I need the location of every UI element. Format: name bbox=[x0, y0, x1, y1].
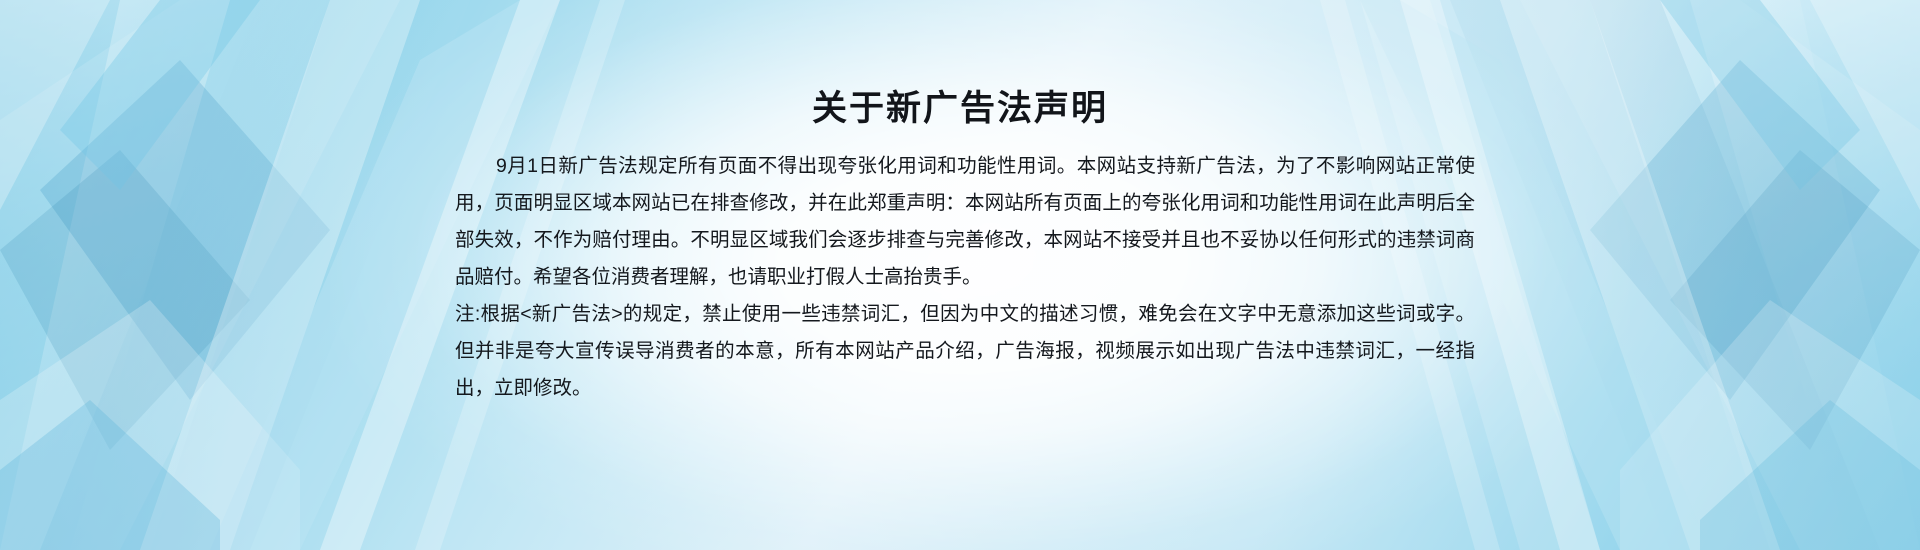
statement-paragraph-2: 注:根据<新广告法>的规定，禁止使用一些违禁词汇，但因为中文的描述习惯，难免会在… bbox=[455, 296, 1475, 407]
advertising-law-statement-banner: 关于新广告法声明 9月1日新广告法规定所有页面不得出现夸张化用词和功能性用词。本… bbox=[0, 0, 1920, 550]
statement-content: 关于新广告法声明 9月1日新广告法规定所有页面不得出现夸张化用词和功能性用词。本… bbox=[0, 0, 1920, 550]
statement-paragraph-1: 9月1日新广告法规定所有页面不得出现夸张化用词和功能性用词。本网站支持新广告法，… bbox=[455, 148, 1475, 296]
statement-body: 9月1日新广告法规定所有页面不得出现夸张化用词和功能性用词。本网站支持新广告法，… bbox=[455, 148, 1475, 407]
page-title: 关于新广告法声明 bbox=[0, 88, 1920, 130]
